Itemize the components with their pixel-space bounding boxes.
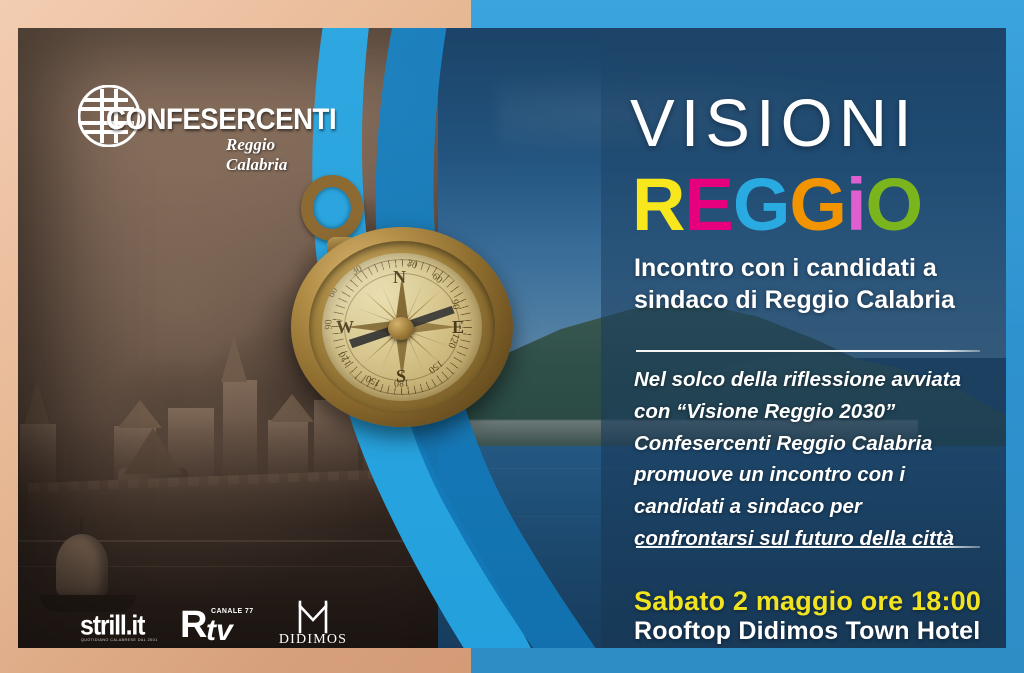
divider-top [636, 350, 980, 352]
body-line-1: Nel solco della riflessione avviata [634, 364, 994, 396]
boat-sail [56, 534, 108, 596]
body-line-6: confrontarsi sul futuro della città [634, 523, 994, 555]
title-visioni: VISIONI [630, 90, 918, 157]
title-reggio-letter-0: R [632, 168, 684, 242]
text-column: VISIONI REGGiO Incontro con i candidati … [618, 28, 1006, 648]
body-line-3: Confesercenti Reggio Calabria [634, 428, 994, 460]
compass-direction-west: W [336, 317, 354, 338]
poster-canvas: N E S W 30 60 90 120 150 180 150 120 90 … [18, 28, 1006, 648]
subtitle-block: Incontro con i candidati a sindaco di Re… [634, 252, 1004, 316]
title-reggio-letter-1: E [684, 168, 732, 242]
compass-degree-label: 90 [323, 319, 334, 329]
poster-root: N E S W 30 60 90 120 150 180 150 120 90 … [0, 0, 1024, 673]
confesercenti-chapter: Reggio Calabria [226, 135, 308, 175]
event-venue: Rooftop Didimos Town Hotel [634, 617, 980, 646]
compass-loop-ring [301, 175, 363, 241]
title-reggio-letter-4: i [846, 168, 866, 242]
strill-tagline: QUOTIDIANO CALABRESE DAL 2001 [81, 638, 158, 642]
subtitle-line-1: Incontro con i candidati a [634, 252, 1004, 284]
sponsor-didimos[interactable]: DIDIMOS [270, 600, 356, 648]
sponsor-logo-row: strill.it QUOTIDIANO CALABRESE DAL 2001 … [68, 598, 358, 648]
subtitle-line-2: sindaco di Reggio Calabria [634, 284, 1004, 316]
title-reggio-letter-5: O [866, 168, 923, 242]
compass-direction-north: N [393, 267, 406, 288]
body-text-block: Nel solco della riflessione avviata con … [634, 364, 994, 555]
confesercenti-wordmark: CONFESERCENTI [106, 103, 336, 137]
compass-degree-label: 180 [394, 377, 409, 389]
rtv-letter-r: R [180, 606, 207, 644]
body-line-5: candidati a sindaco per [634, 491, 994, 523]
sponsor-rtv[interactable]: R CANALE 77 tv [180, 604, 260, 646]
didimos-monogram-icon [270, 600, 356, 634]
body-line-4: promuove un incontro con i [634, 459, 994, 491]
title-reggio-letter-3: G [789, 168, 846, 242]
compass-case: N E S W 30 60 90 120 150 180 150 120 90 … [291, 227, 513, 427]
church-spire [221, 336, 247, 382]
divider-bottom [636, 546, 980, 548]
compass-icon: N E S W 30 60 90 120 150 180 150 120 90 … [283, 175, 518, 430]
title-reggio: REGGiO [632, 168, 922, 242]
body-line-2: con “Visione Reggio 2030” [634, 396, 994, 428]
confesercenti-logo[interactable]: CONFESERCENTI Reggio Calabria [78, 83, 308, 165]
title-reggio-letter-2: G [733, 168, 790, 242]
compass-dial: N E S W 30 60 90 120 150 180 150 120 90 … [322, 253, 482, 401]
didimos-wordmark: DIDIMOS [270, 632, 356, 648]
compass-bezel: N E S W 30 60 90 120 150 180 150 120 90 … [309, 241, 495, 413]
compass-needle-hub [388, 317, 414, 340]
rtv-letters-tv: tv [206, 616, 233, 646]
event-datetime: Sabato 2 maggio ore 18:00 [634, 586, 981, 617]
